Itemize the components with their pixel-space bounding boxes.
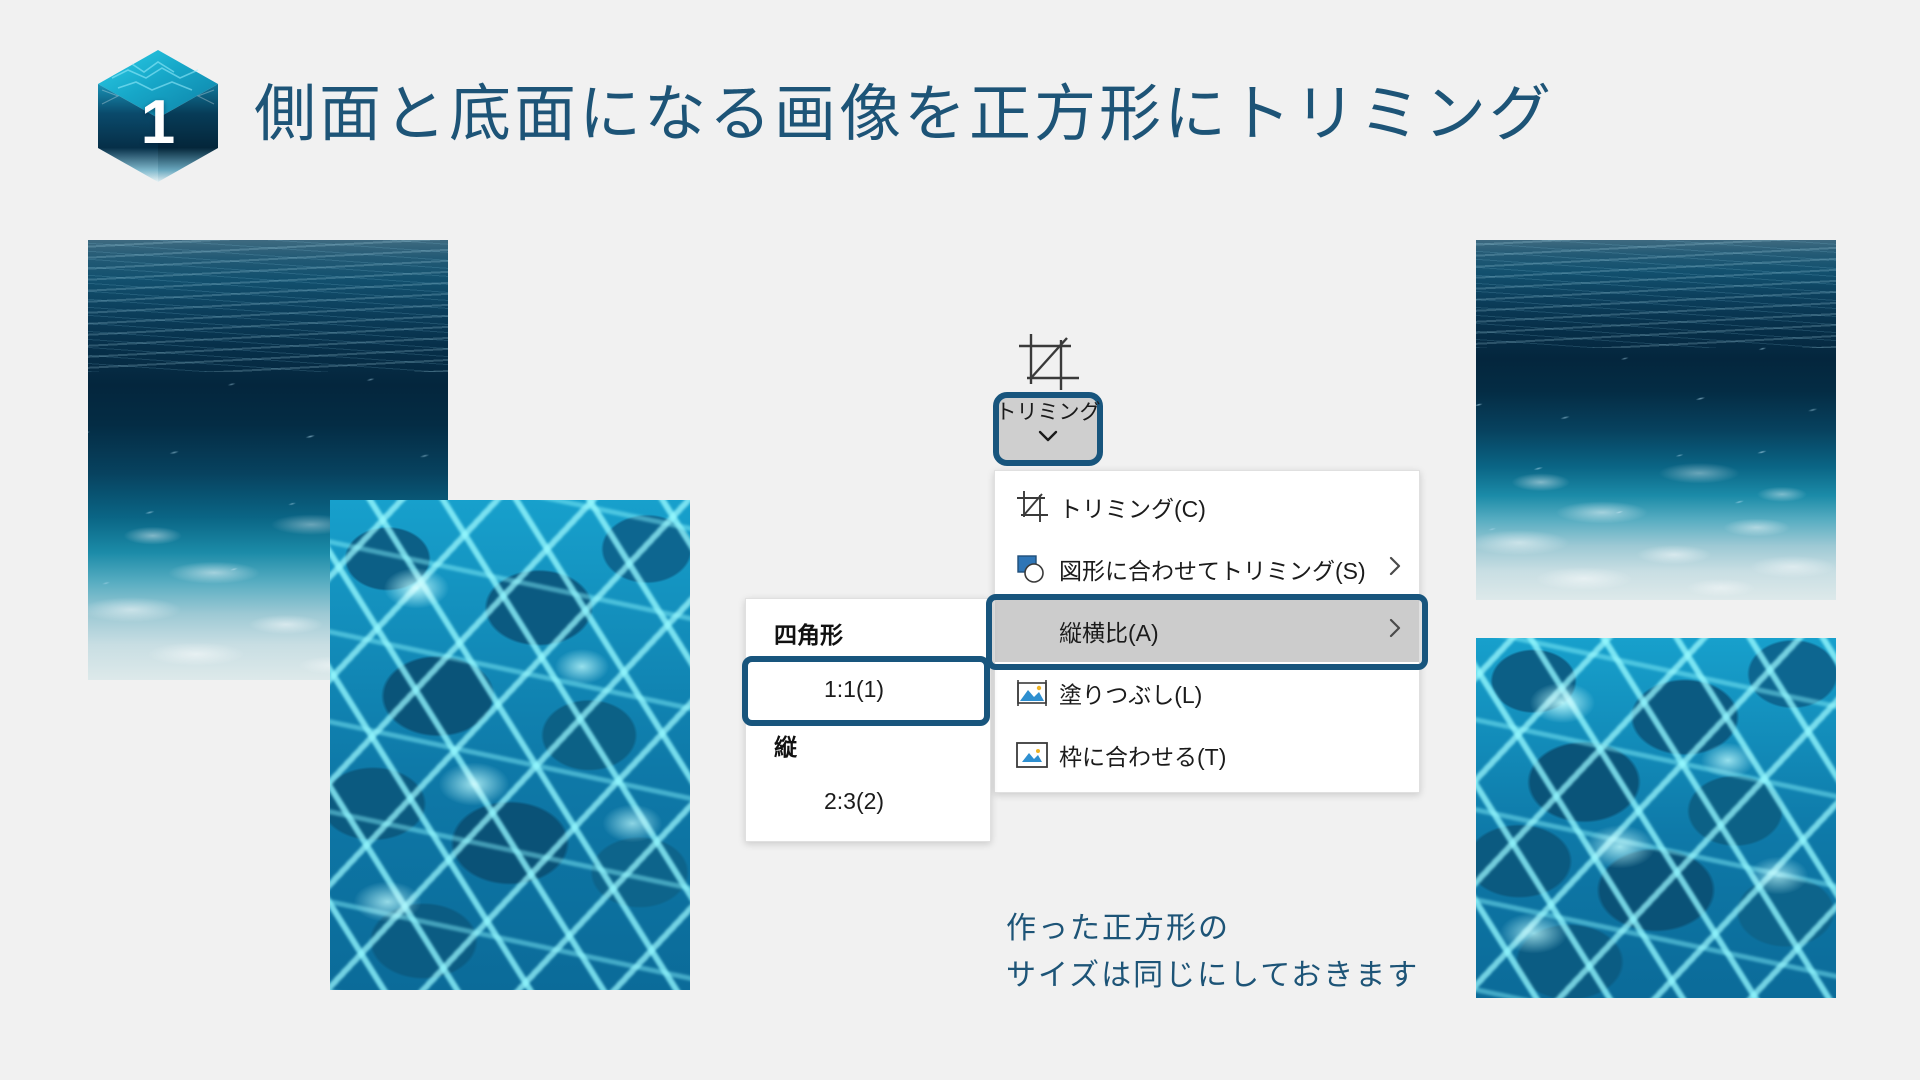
submenu-item-2-3[interactable]: 2:3(2) [746, 771, 990, 831]
menu-item-label: トリミング(C) [1059, 490, 1405, 524]
ocean-square-cropped-photo[interactable] [1476, 240, 1836, 600]
crop-glyph [1015, 332, 1083, 392]
pool-original-photo[interactable] [330, 500, 690, 990]
crop-button[interactable]: トリミング [993, 392, 1103, 466]
caption-line-2: サイズは同じにしておきます [1006, 953, 1419, 1000]
ocean-sand-caustics [1476, 449, 1836, 600]
page-title: 側面と底面になる画像を正方形にトリミング [254, 81, 1554, 149]
menu-item-label: 図形に合わせてトリミング(S) [1059, 552, 1385, 586]
submenu-group-header: 縦 [746, 719, 990, 771]
picture-fill-icon [1015, 676, 1059, 710]
chevron-right-icon [1385, 615, 1405, 647]
aspect-ratio-submenu[interactable]: 四角形 1:1(1) 縦 2:3(2) [745, 598, 991, 842]
menu-item-label: 縦横比(A) [1059, 614, 1385, 648]
crop-icon [1015, 490, 1059, 524]
crop-to-shape-icon [1015, 552, 1059, 586]
slide-canvas: 1 側面と底面になる画像を正方形にトリミング トリミング [0, 0, 1920, 1080]
step-number: 1 [88, 92, 228, 154]
menu-item-label: 枠に合わせる(T) [1059, 738, 1405, 772]
submenu-item-1-1[interactable]: 1:1(1) [746, 659, 990, 719]
menu-item-fit[interactable]: 枠に合わせる(T) [995, 724, 1419, 786]
menu-item-crop-to-shape[interactable]: 図形に合わせてトリミング(S) [995, 538, 1419, 600]
crop-icon [1015, 332, 1083, 392]
chevron-down-icon [1035, 428, 1061, 449]
menu-item-label: 塗りつぶし(L) [1059, 676, 1405, 710]
slide-header: 1 側面と底面になる画像を正方形にトリミング [88, 40, 1554, 190]
slide-caption: 作った正方形の サイズは同じにしておきます [1006, 906, 1419, 999]
pool-square-cropped-photo[interactable] [1476, 638, 1836, 998]
water-cube-logo: 1 [88, 40, 228, 190]
crop-dropdown-menu[interactable]: トリミング(C) 図形に合わせてトリミング(S) 縦横比(A) [994, 470, 1420, 793]
pool-highlight-glow [330, 500, 690, 990]
menu-item-crop[interactable]: トリミング(C) [995, 476, 1419, 538]
menu-item-fill[interactable]: 塗りつぶし(L) [995, 662, 1419, 724]
crop-button-label: トリミング [996, 400, 1101, 426]
submenu-group-header: 四角形 [746, 607, 990, 659]
picture-fit-icon [1015, 738, 1059, 772]
menu-item-aspect-ratio[interactable]: 縦横比(A) [995, 600, 1419, 662]
chevron-right-icon [1385, 553, 1405, 585]
caption-line-1: 作った正方形の [1006, 906, 1419, 953]
pool-highlight-glow [1476, 638, 1836, 998]
